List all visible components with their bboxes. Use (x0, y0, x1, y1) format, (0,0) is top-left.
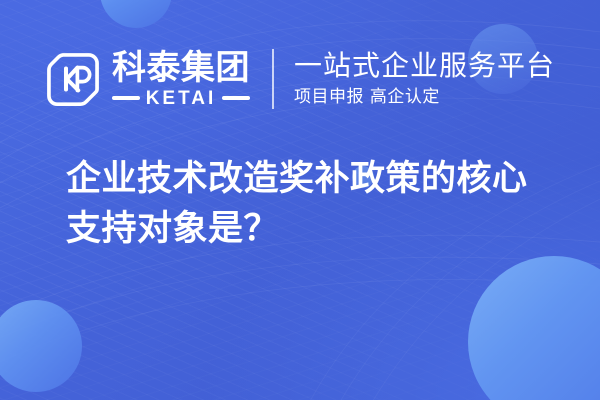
brand-rule-right (222, 96, 250, 100)
brand-name-cn: 科泰集团 (112, 51, 250, 85)
brand-name-en: KETAI (146, 89, 217, 108)
promo-banner: 科泰集团 KETAI 一站式企业服务平台 项目申报 高企认定 企业技术改造奖补政… (0, 0, 600, 400)
tagline-secondary: 项目申报 高企认定 (294, 88, 555, 107)
page-title: 企业技术改造奖补政策的核心支持对象是？ (66, 154, 558, 255)
brand-name-en-row: KETAI (112, 89, 250, 108)
title-block: 企业技术改造奖补政策的核心支持对象是？ (66, 154, 558, 255)
brand-rule-left (112, 96, 140, 100)
ketai-diamond-kp-logo-icon (45, 51, 101, 107)
tagline-primary: 一站式企业服务平台 (294, 51, 555, 81)
header-divider (272, 49, 274, 109)
brand-lockup[interactable]: 科泰集团 KETAI (45, 51, 250, 108)
banner-header: 科泰集团 KETAI 一站式企业服务平台 项目申报 高企认定 (0, 40, 600, 118)
brand-wordmark: 科泰集团 KETAI (112, 51, 250, 108)
tagline-block: 一站式企业服务平台 项目申报 高企认定 (294, 51, 555, 107)
